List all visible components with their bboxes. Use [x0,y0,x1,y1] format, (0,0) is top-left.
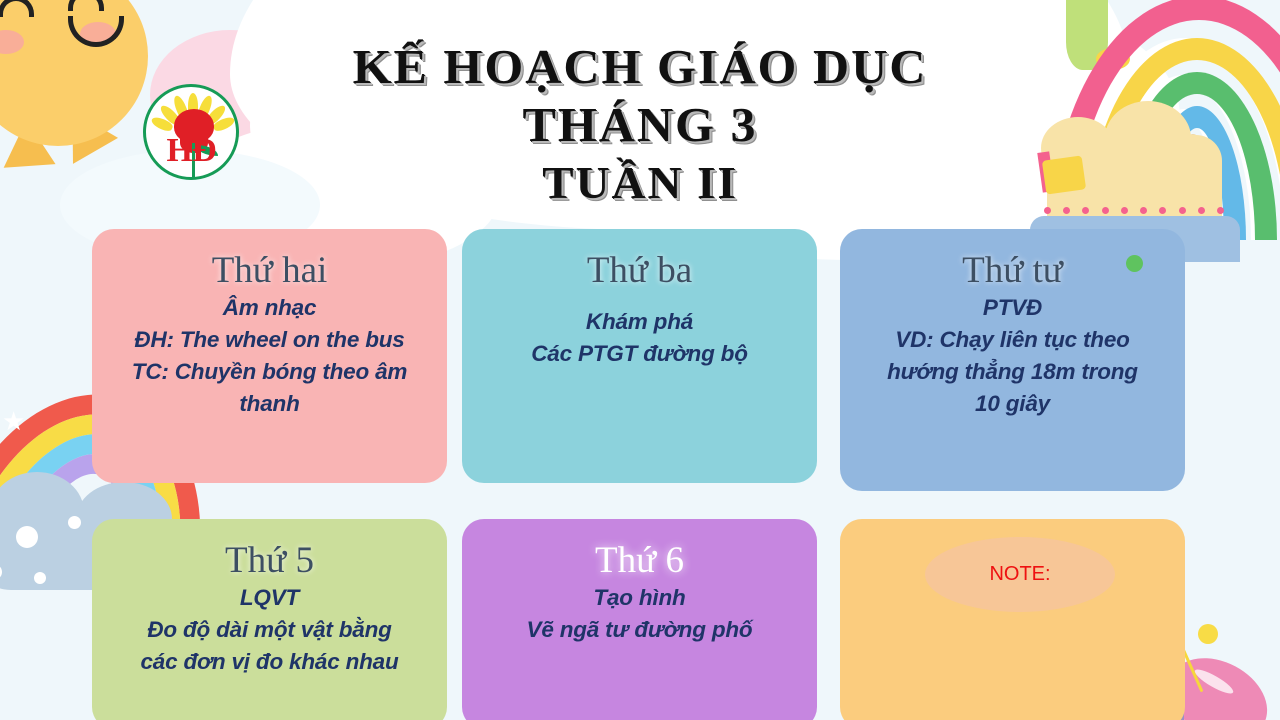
card-thu-ba[interactable]: Thứ ba Khám phá Các PTGT đường bộ [462,229,817,483]
note-label: NOTE: [989,563,1050,586]
card-body: Khám phá Các PTGT đường bộ [476,306,803,370]
card-body: PTVĐ VD: Chạy liên tục theo hướng thẳng … [854,292,1171,420]
card-day-label: Thứ 5 [106,538,433,584]
card-note[interactable]: NOTE: [840,519,1185,720]
card-line: 10 giây [854,388,1171,420]
card-body: Âm nhạc ĐH: The wheel on the bus TC: Chu… [106,292,433,420]
title-line-2: TUẦN II [303,154,976,212]
poster-canvas: ★ ★ HĐ [0,0,1280,720]
card-line: Tạo hình [476,582,803,614]
card-day-label: Thứ hai [106,248,433,294]
card-line: Khám phá [476,306,803,338]
card-line: hướng thẳng 18m trong [854,356,1171,388]
card-day-label: Thứ tư [854,248,1171,294]
card-body: LQVT Đo độ dài một vật bằng các đơn vị đ… [106,582,433,678]
card-thu-5[interactable]: Thứ 5 LQVT Đo độ dài một vật bằng các đơ… [92,519,447,720]
card-line: Đo độ dài một vật bằng [106,614,433,646]
card-line: thanh [106,388,433,420]
card-body: Tạo hình Vẽ ngã tư đường phố [476,582,803,646]
card-line: LQVT [106,582,433,614]
card-line: Các PTGT đường bộ [476,338,803,370]
title-line-1: KẾ HOẠCH GIÁO DỤC THÁNG 3 [303,38,976,154]
card-day-label: Thứ ba [476,248,803,294]
card-line: Vẽ ngã tư đường phố [476,614,803,646]
note-badge: NOTE: [925,537,1115,612]
page-title: KẾ HOẠCH GIÁO DỤC THÁNG 3 TUẦN II [310,38,970,212]
card-day-label: Thứ 6 [476,538,803,584]
card-line: VD: Chạy liên tục theo [854,324,1171,356]
card-thu-tu[interactable]: Thứ tư PTVĐ VD: Chạy liên tục theo hướng… [840,229,1185,491]
green-dot-decoration [1126,255,1143,272]
card-line: TC: Chuyền bóng theo âm [106,356,433,388]
card-line: các đơn vị đo khác nhau [106,646,433,678]
card-line: ĐH: The wheel on the bus [106,324,433,356]
card-thu-6[interactable]: Thứ 6 Tạo hình Vẽ ngã tư đường phố [462,519,817,720]
card-thu-hai[interactable]: Thứ hai Âm nhạc ĐH: The wheel on the bus… [92,229,447,483]
card-line: Âm nhạc [106,292,433,324]
card-line: PTVĐ [854,292,1171,324]
